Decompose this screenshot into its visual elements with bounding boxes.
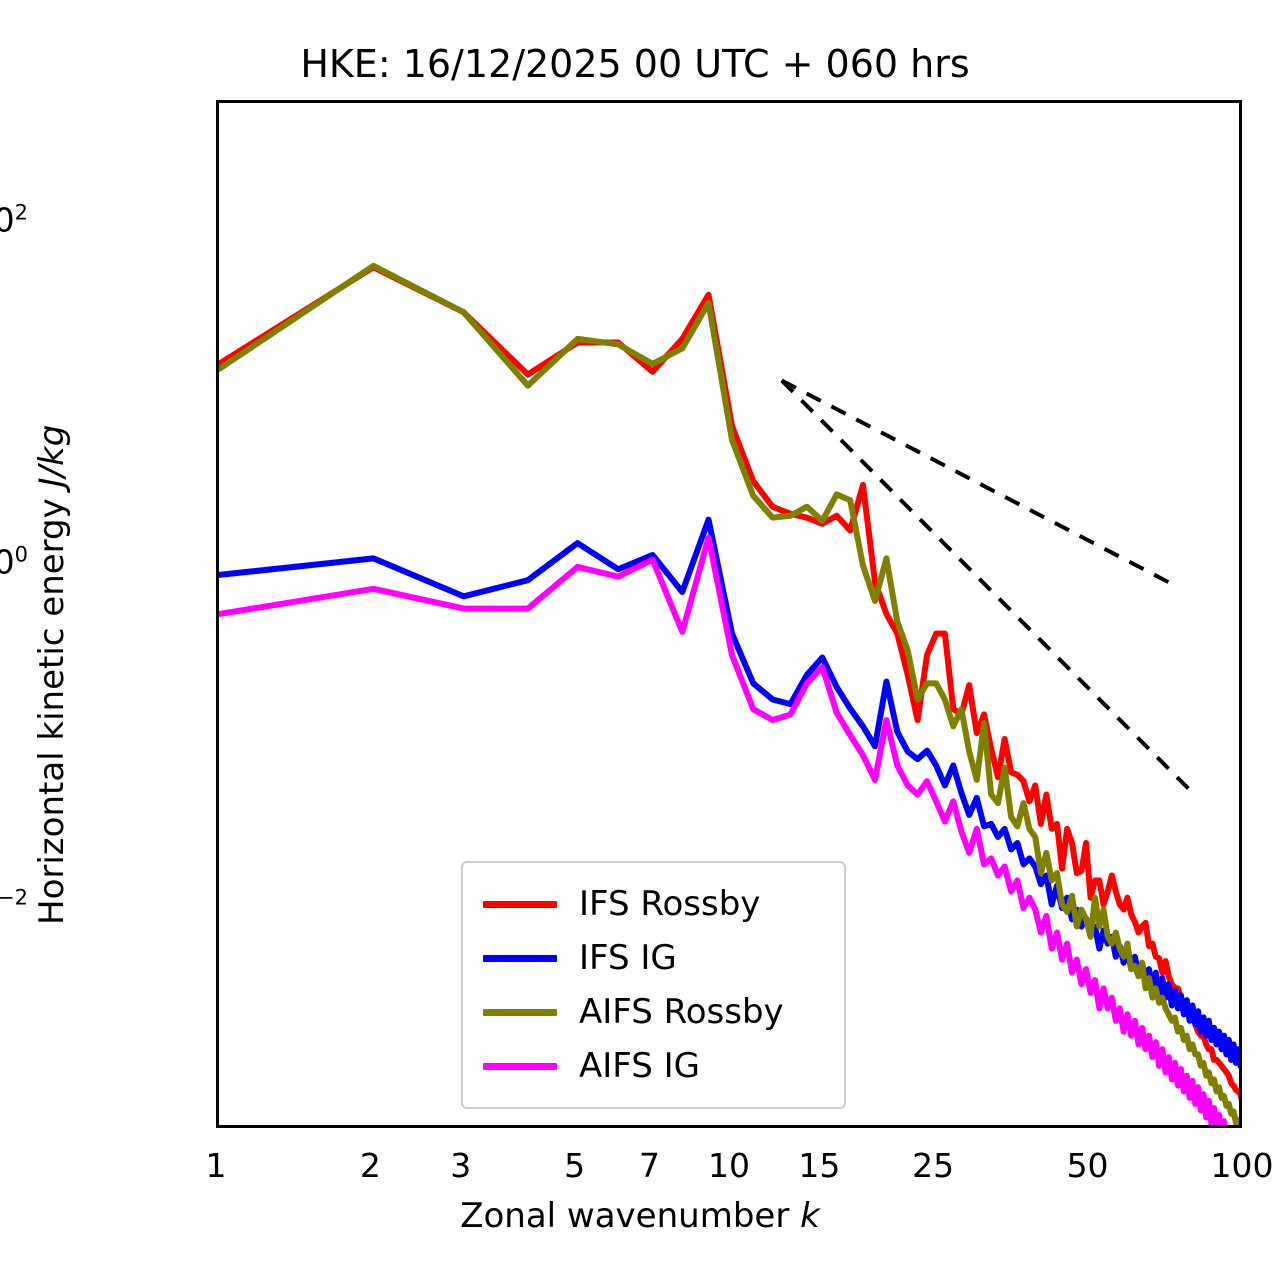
- y-tick-minor-5e-2: [216, 787, 219, 789]
- y-tick-major-2: [216, 907, 219, 910]
- y-tick-minor-6e0: [216, 431, 219, 433]
- x-tick-label-25: 25: [912, 1146, 954, 1185]
- y-tick-minor-7e0: [216, 420, 219, 422]
- y-tick-minor-9e-2: [216, 744, 219, 746]
- x-tick-label-100: 100: [1211, 1146, 1274, 1185]
- y-tick-minor-5e1: [216, 273, 219, 275]
- legend-label-aifs-rossby: AIFS Rossby: [579, 992, 784, 1032]
- y-tick-minor-3e1: [216, 311, 219, 313]
- y-tick-minor-3e-1: [216, 654, 219, 656]
- y-tick-minor-4e1: [216, 290, 219, 292]
- y-tick-minor-2e-1: [216, 684, 219, 686]
- y-tick-minor-1e-3: [216, 1078, 219, 1080]
- plot-area: IFS Rossby IFS IG AIFS Rossby AIFS IG Mi…: [216, 100, 1242, 1128]
- y-tick-minor-4e-2: [216, 804, 219, 806]
- legend: IFS Rossby IFS IG AIFS Rossby AIFS IG: [461, 861, 846, 1109]
- y-tick-minor-1e1: [216, 393, 219, 395]
- x-axis-label-main: Zonal wavenumber: [460, 1196, 800, 1236]
- legend-label-aifs-ig: AIFS IG: [579, 1046, 700, 1086]
- y-tick-label-1: 100: [0, 543, 28, 582]
- y-tick-minor-2e2: [216, 170, 219, 172]
- y-tick-minor-8e0: [216, 410, 219, 412]
- y-tick-label-2: 10−2: [0, 886, 28, 925]
- y-tick-minor-3e2: [216, 140, 219, 142]
- y-tick-minor-9e-3: [216, 915, 219, 917]
- chart-title: HKE: 16/12/2025 00 UTC + 060 hrs: [0, 42, 1280, 86]
- y-tick-label-0: 102: [0, 200, 28, 239]
- y-tick-base-0: 10: [0, 200, 15, 239]
- y-tick-minor-8e-4: [216, 1095, 219, 1097]
- y-tick-major-1: [216, 564, 219, 567]
- y-tick-minor-4e-1: [216, 633, 219, 635]
- x-tick-label-5: 5: [564, 1146, 585, 1185]
- y-tick-minor-2e-3: [216, 1027, 219, 1029]
- legend-swatch-aifs-rossby: [483, 1009, 557, 1016]
- x-tick-label-15: 15: [798, 1146, 840, 1185]
- y-tick-minor-4e0: [216, 461, 219, 463]
- y-tick-minor-5e0: [216, 445, 219, 447]
- x-tick-label-50: 50: [1067, 1146, 1109, 1185]
- y-tick-minor-6e1: [216, 260, 219, 262]
- y-tick-minor-2e-2: [216, 856, 219, 858]
- x-tick-label-7: 7: [639, 1146, 660, 1185]
- y-tick-minor-9e1: [216, 230, 219, 232]
- y-tick-minor-7e1: [216, 248, 219, 250]
- y-tick-minor-5e-1: [216, 616, 219, 618]
- y-tick-exponent-2: −2: [0, 886, 28, 910]
- x-axis-label: Zonal wavenumber k: [0, 1196, 1280, 1236]
- y-tick-minor-6e-2: [216, 774, 219, 776]
- y-tick-minor-5e-3: [216, 959, 219, 961]
- y-tick-minor-8e1: [216, 238, 219, 240]
- y-tick-minor-9e0: [216, 401, 219, 403]
- y-tick-minor-2e1: [216, 342, 219, 344]
- y-tick-minor-8e-1: [216, 581, 219, 583]
- y-tick-minor-6e-1: [216, 602, 219, 604]
- y-tick-minor-4e-3: [216, 975, 219, 977]
- y-tick-minor-3e-3: [216, 997, 219, 999]
- y-tick-minor-7e-3: [216, 934, 219, 936]
- y-axis-label-main: Horizontal kinetic energy: [32, 487, 72, 925]
- y-tick-major-0: [216, 221, 219, 224]
- y-tick-minor-4e2: [216, 119, 219, 121]
- chart-figure: HKE: 16/12/2025 00 UTC + 060 hrs Horizon…: [0, 0, 1280, 1288]
- legend-label-ifs-rossby: IFS Rossby: [579, 884, 760, 924]
- legend-item-aifs-ig[interactable]: AIFS IG: [463, 1039, 844, 1093]
- x-tick-label-3: 3: [450, 1146, 471, 1185]
- y-tick-minor-2e0: [216, 513, 219, 515]
- y-tick-minor-3e0: [216, 483, 219, 485]
- legend-item-aifs-rossby[interactable]: AIFS Rossby: [463, 985, 844, 1039]
- y-tick-minor-9e-1: [216, 572, 219, 574]
- y-axis-label-units: J/kg: [32, 425, 72, 488]
- chart-title-text: HKE: 16/12/2025 00 UTC + 060 hrs: [300, 42, 969, 86]
- legend-swatch-aifs-ig: [483, 1063, 557, 1070]
- y-tick-minor-8e-3: [216, 924, 219, 926]
- legend-item-ifs-rossby[interactable]: IFS Rossby: [463, 877, 844, 931]
- y-tick-exponent-0: 2: [15, 200, 28, 224]
- x-tick-label-2: 2: [360, 1146, 381, 1185]
- x-tick-label-1: 1: [206, 1146, 227, 1185]
- legend-swatch-ifs-ig: [483, 955, 557, 962]
- y-tick-minor-8e-2: [216, 752, 219, 754]
- legend-label-ifs-ig: IFS IG: [579, 938, 677, 978]
- y-tick-minor-6e-3: [216, 945, 219, 947]
- y-tick-minor-7e-2: [216, 762, 219, 764]
- x-axis-label-symbol: k: [800, 1196, 820, 1236]
- y-tick-minor-1e-1: [216, 736, 219, 738]
- y-tick-base-1: 10: [0, 543, 15, 582]
- y-axis-label: Horizontal kinetic energy J/kg: [32, 425, 72, 925]
- y-tick-exponent-1: 0: [15, 543, 28, 567]
- legend-item-ifs-ig[interactable]: IFS IG: [463, 931, 844, 985]
- y-tick-minor-7e-4: [216, 1105, 219, 1107]
- y-tick-minor-9e-4: [216, 1086, 219, 1088]
- legend-swatch-ifs-rossby: [483, 901, 557, 908]
- y-tick-minor-3e-2: [216, 825, 219, 827]
- y-tick-minor-6e-4: [216, 1116, 219, 1118]
- reference-line--5-3: [782, 381, 1172, 584]
- x-tick-label-10: 10: [708, 1146, 750, 1185]
- y-tick-minor-7e-1: [216, 591, 219, 593]
